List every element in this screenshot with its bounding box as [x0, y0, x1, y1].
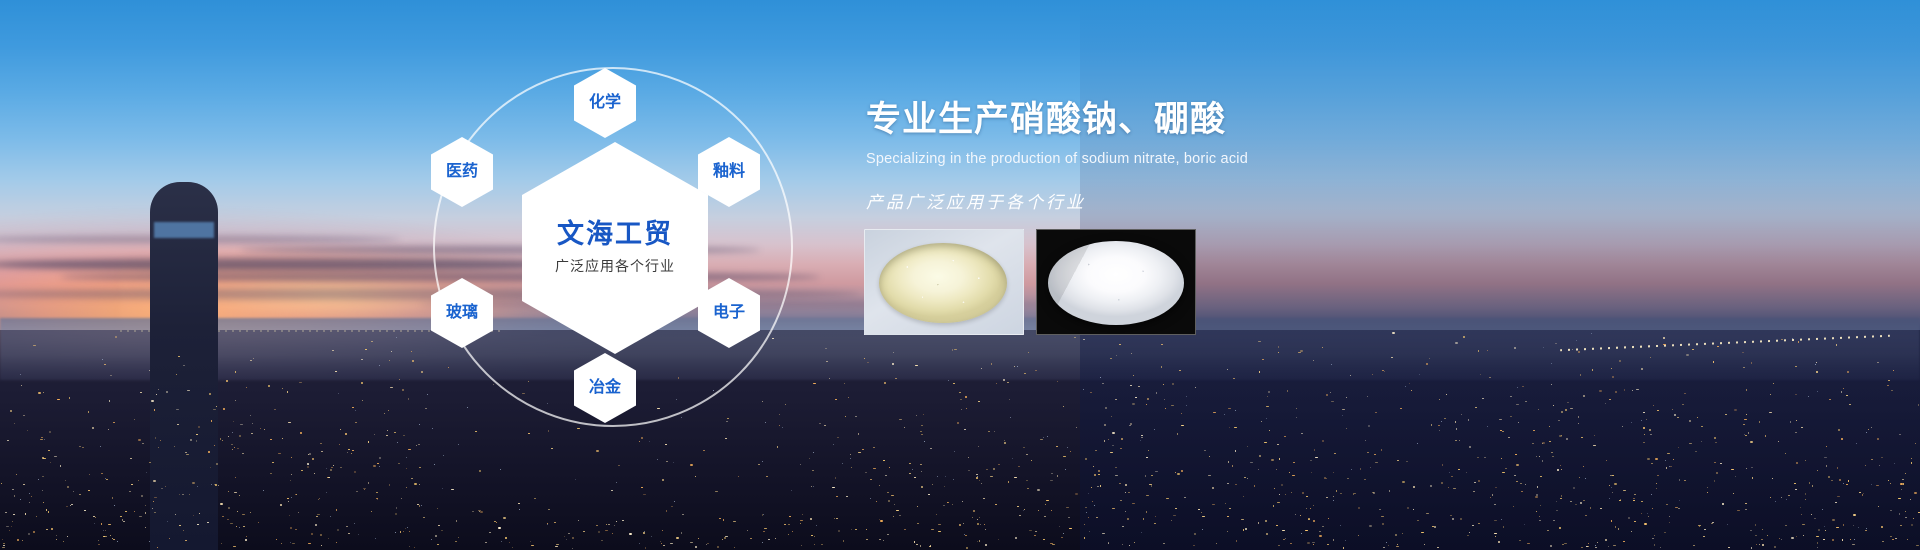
promo-banner: 化学 釉料 电子 冶金 玻璃 医药 文海工贸 广泛应用各个行业 专业生产硝酸钠、…: [0, 0, 1920, 550]
banner-tagline: 产品广泛应用于各个行业: [866, 188, 1566, 213]
hex-node-label: 冶金: [589, 380, 621, 396]
product-photo-strip: [864, 229, 1196, 335]
right-night-overlay: [1080, 0, 1920, 550]
hex-node-label: 电子: [713, 305, 745, 321]
powder-pile-cream: [879, 243, 1007, 323]
banner-copy-block: 专业生产硝酸钠、硼酸 Specializing in the productio…: [866, 100, 1566, 213]
product-photo-boric-acid[interactable]: [1036, 229, 1196, 335]
hex-node-label: 玻璃: [446, 305, 478, 321]
skyscraper-tower: [150, 182, 218, 550]
industry-hex-diagram: 化学 釉料 电子 冶金 玻璃 医药 文海工贸 广泛应用各个行业: [425, 25, 805, 525]
hex-node-label: 化学: [589, 95, 621, 111]
company-tagline: 广泛应用各个行业: [555, 256, 675, 276]
hex-node-label: 医药: [446, 164, 478, 180]
product-photo-sodium-nitrate[interactable]: [864, 229, 1024, 335]
banner-subtitle-english: Specializing in the production of sodium…: [866, 151, 1566, 167]
banner-title: 专业生产硝酸钠、硼酸: [866, 100, 1566, 140]
company-name: 文海工贸: [557, 220, 673, 250]
powder-pile-white: [1048, 241, 1184, 325]
hex-node-label: 釉料: [713, 164, 745, 180]
